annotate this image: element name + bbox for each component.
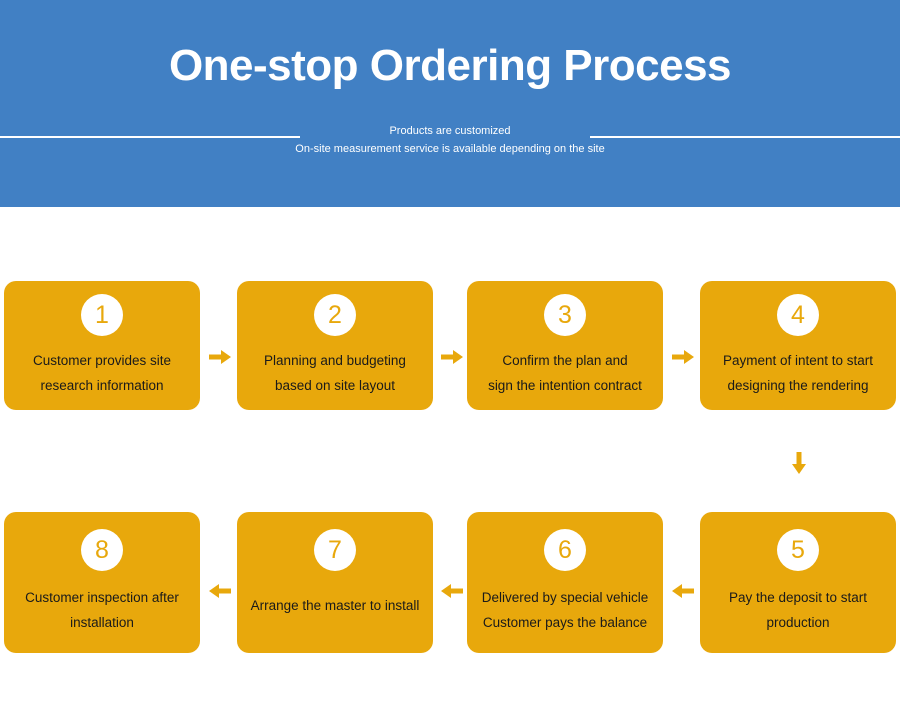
step-number-badge-2: 2 [314, 294, 356, 336]
step-label-2-line1: Planning and budgeting [241, 348, 429, 373]
step-number-3: 3 [558, 303, 572, 328]
step-label-8-line1: Customer inspection after [8, 585, 196, 610]
step-label-6-line2: Customer pays the balance [471, 610, 659, 635]
step-label-4-line1: Payment of intent to start [704, 348, 892, 373]
step-number-8: 8 [95, 538, 109, 563]
step-number-badge-5: 5 [777, 529, 819, 571]
arrow-left-icon [670, 578, 696, 604]
arrow-down-icon [786, 450, 812, 476]
step-number-badge-1: 1 [81, 294, 123, 336]
header-subtitle-primary: Products are customized [0, 124, 900, 139]
step-number-7: 7 [328, 538, 342, 563]
step-label-3-line2: sign the intention contract [471, 373, 659, 398]
arrow-left-icon [207, 578, 233, 604]
arrow-left-icon [439, 578, 465, 604]
step-label-1: Customer provides site research informat… [4, 348, 200, 398]
arrow-right-icon [439, 344, 465, 370]
step-number-badge-8: 8 [81, 529, 123, 571]
step-label-4: Payment of intent to start designing the… [700, 348, 896, 398]
process-step-3[interactable]: 3 Confirm the plan and sign the intentio… [467, 281, 663, 410]
step-label-7-line1: Arrange the master to install [241, 593, 429, 618]
page-title: One-stop Ordering Process [0, 38, 900, 94]
header-banner: One-stop Ordering Process Products are c… [0, 0, 900, 207]
process-step-6[interactable]: 6 Delivered by special vehicle Customer … [467, 512, 663, 653]
step-label-3: Confirm the plan and sign the intention … [467, 348, 663, 398]
step-label-3-line1: Confirm the plan and [471, 348, 659, 373]
step-number-4: 4 [791, 303, 805, 328]
header-subtitle-secondary: On-site measurement service is available… [0, 142, 900, 157]
step-number-badge-4: 4 [777, 294, 819, 336]
step-label-1-line2: research information [8, 373, 196, 398]
step-label-2: Planning and budgeting based on site lay… [237, 348, 433, 398]
step-label-1-line1: Customer provides site [8, 348, 196, 373]
process-step-4[interactable]: 4 Payment of intent to start designing t… [700, 281, 896, 410]
step-label-6-line1: Delivered by special vehicle [471, 585, 659, 610]
step-number-5: 5 [791, 538, 805, 563]
step-label-5-line2: production [704, 610, 892, 635]
step-number-6: 6 [558, 538, 572, 563]
step-label-2-line2: based on site layout [241, 373, 429, 398]
arrow-right-icon [207, 344, 233, 370]
step-number-badge-6: 6 [544, 529, 586, 571]
step-number-badge-7: 7 [314, 529, 356, 571]
arrow-right-icon [670, 344, 696, 370]
step-label-4-line2: designing the rendering [704, 373, 892, 398]
step-number-2: 2 [328, 303, 342, 328]
process-step-8[interactable]: 8 Customer inspection after installation [4, 512, 200, 653]
step-label-5-line1: Pay the deposit to start [704, 585, 892, 610]
process-step-7[interactable]: 7 Arrange the master to install [237, 512, 433, 653]
step-label-7: Arrange the master to install [237, 593, 433, 618]
step-number-1: 1 [95, 303, 109, 328]
step-label-8-line2: installation [8, 610, 196, 635]
step-label-6: Delivered by special vehicle Customer pa… [467, 585, 663, 635]
process-step-1[interactable]: 1 Customer provides site research inform… [4, 281, 200, 410]
process-step-2[interactable]: 2 Planning and budgeting based on site l… [237, 281, 433, 410]
step-label-8: Customer inspection after installation [4, 585, 200, 635]
process-step-5[interactable]: 5 Pay the deposit to start production [700, 512, 896, 653]
step-number-badge-3: 3 [544, 294, 586, 336]
step-label-5: Pay the deposit to start production [700, 585, 896, 635]
process-flow-diagram: 1 Customer provides site research inform… [0, 207, 900, 719]
